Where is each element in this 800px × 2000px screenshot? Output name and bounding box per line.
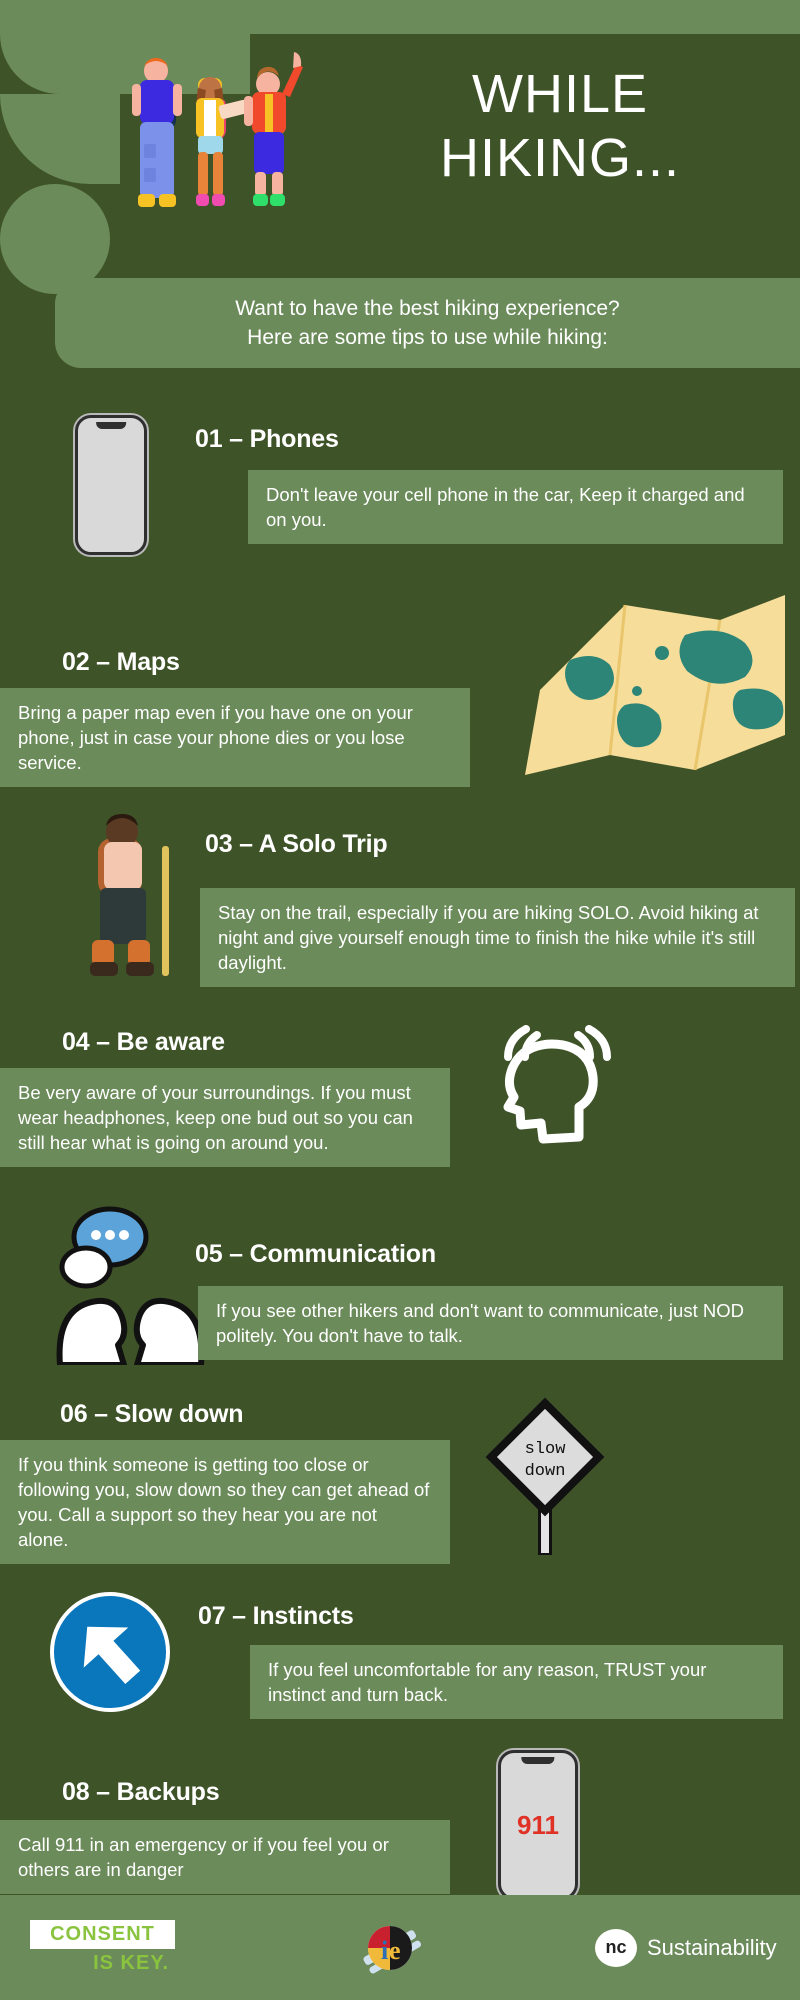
ie-logo: i e — [355, 1913, 425, 1983]
phone-notch — [96, 422, 126, 429]
svg-text:e: e — [389, 1936, 401, 1965]
svg-text:i: i — [381, 1936, 388, 1965]
tip-02-title: 02 – Maps — [62, 648, 180, 677]
head-listening-icon — [490, 1025, 625, 1150]
phone-notch-911 — [521, 1757, 554, 1764]
tip-01-title: 01 – Phones — [195, 425, 339, 454]
tip-08-body: Call 911 in an emergency or if you feel … — [0, 1820, 450, 1894]
page-title: WHILE HIKING... — [345, 62, 775, 190]
turn-left-arrow-sign-icon — [48, 1590, 173, 1715]
tip-04-body: Be very aware of your surroundings. If y… — [0, 1068, 450, 1167]
header: WHILE HIKING... — [0, 34, 800, 284]
nc-badge: nc — [595, 1929, 637, 1967]
infographic-page: WHILE HIKING... Want to have the best hi… — [0, 0, 800, 2000]
folded-paper-map-icon — [515, 595, 785, 775]
two-heads-speech-bubble-icon — [48, 1195, 213, 1365]
consent-logo-line2: IS KEY. — [30, 1952, 175, 1975]
tip-07-body: If you feel uncomfortable for any reason… — [250, 1645, 783, 1719]
consent-is-key-logo: CONSENT IS KEY. — [30, 1920, 175, 1975]
intro-band: Want to have the best hiking experience?… — [55, 278, 800, 368]
slow-down-sign-line1: slow — [525, 1440, 567, 1459]
phone-911-icon: 911 — [498, 1750, 578, 1900]
tip-04-title: 04 – Be aware — [62, 1028, 225, 1057]
intro-line1: Want to have the best hiking experience? — [235, 297, 619, 320]
footer: CONSENT IS KEY. i e nc Sustainability — [0, 1895, 800, 2000]
tip-06-body: If you think someone is getting too clos… — [0, 1440, 450, 1564]
tip-01-body: Don't leave your cell phone in the car, … — [248, 470, 783, 544]
slow-down-sign-icon: slow down — [480, 1395, 610, 1560]
nc-label: Sustainability — [647, 1935, 777, 1961]
tip-05-title: 05 – Communication — [195, 1240, 436, 1269]
three-hikers-illustration — [118, 44, 338, 259]
tip-06-title: 06 – Slow down — [60, 1400, 243, 1429]
intro-line2: Here are some tips to use while hiking: — [247, 326, 608, 349]
tip-02-body: Bring a paper map even if you have one o… — [0, 688, 470, 787]
top-band-decoration — [0, 0, 800, 34]
nc-sustainability-logo: nc Sustainability — [595, 1929, 777, 1967]
tip-03-body: Stay on the trail, especially if you are… — [200, 888, 795, 987]
tip-03-title: 03 – A Solo Trip — [205, 830, 388, 859]
consent-logo-line1: CONSENT — [30, 1920, 175, 1949]
tip-08-title: 08 – Backups — [62, 1778, 219, 1807]
tip-05-body: If you see other hikers and don't want t… — [198, 1286, 783, 1360]
tip-07-title: 07 – Instincts — [198, 1602, 354, 1631]
page-title-line1: WHILE — [345, 62, 775, 126]
page-title-line2: HIKING... — [345, 126, 775, 190]
smartphone-icon — [75, 415, 147, 555]
phone-911-screen-text: 911 — [517, 1810, 559, 1841]
lone-hiker-icon — [70, 810, 205, 1000]
slow-down-sign-line2: down — [525, 1462, 566, 1481]
